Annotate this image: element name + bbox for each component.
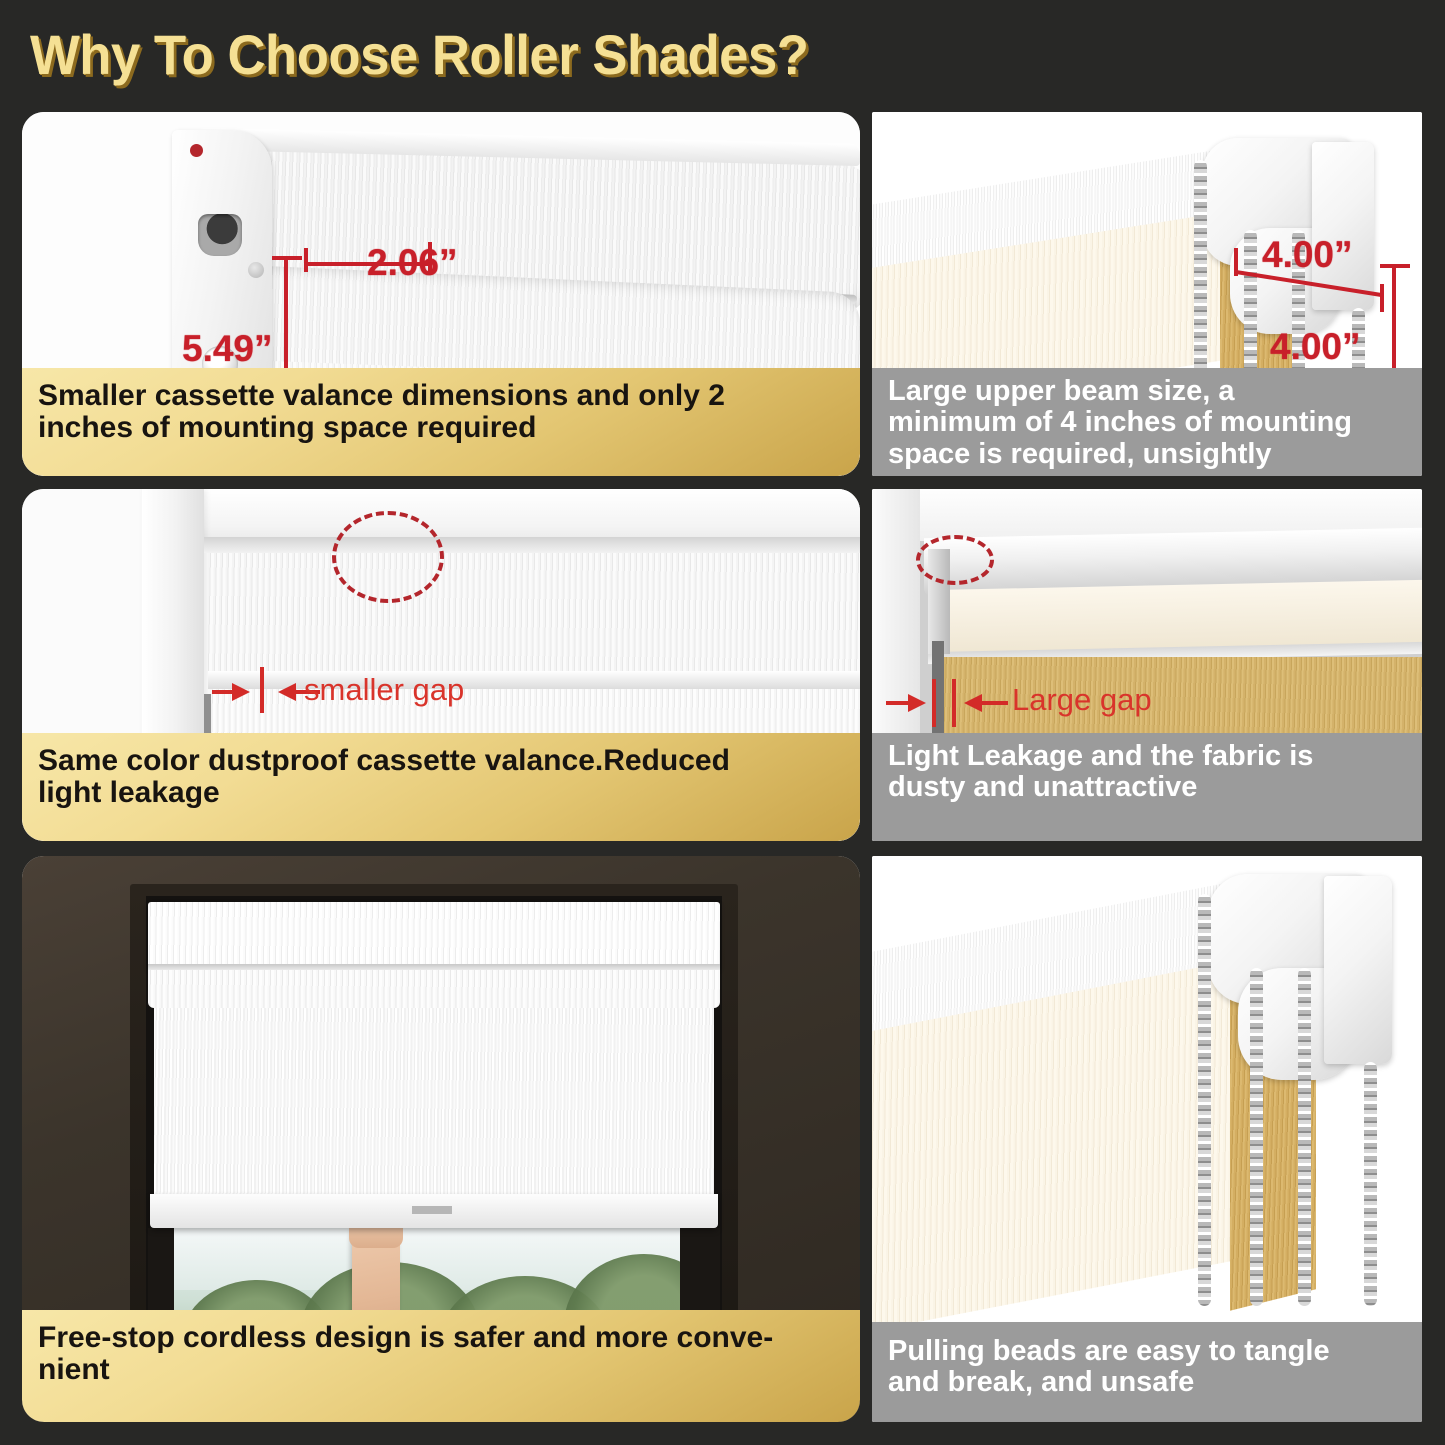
caption-line: Free-stop cordless design is safer and m… [38,1322,844,1354]
bead-chain-left [1198,894,1211,1306]
mount-dot-icon [190,144,203,157]
width-dim-label: 2.06” [367,242,458,284]
gap-tick-line-a [932,679,936,727]
panel-grid: 2.06” 5.49” Smaller cassette valance dim… [0,0,1445,1445]
roller-shade-fabric [154,1006,714,1218]
panel-1-caption: Smaller cassette valance dimensions and … [22,368,860,476]
caption-line: space is required, unsightly [888,439,1406,470]
caption-line: Same color dustproof cassette valance.Re… [38,745,844,777]
gap-arrow-left-stem [212,690,234,694]
shade-brand-tag [412,1206,452,1214]
panel-smaller-cassette: 2.06” 5.49” Smaller cassette valance dim… [22,112,860,476]
caption-line: and break, and unsafe [888,1367,1406,1398]
beam-height-tick-top [1380,264,1410,268]
infographic-root: Why To Choose Roller Shades? [0,0,1445,1445]
width-dim-tick-left [304,248,308,272]
height-dim-tick-top [272,256,302,260]
caption-line: light leakage [38,777,844,809]
beam-width-tick-right [1380,284,1384,312]
bead-chain-tail [1364,1062,1377,1306]
highlight-circle-icon [332,511,444,603]
bead-chain-left [1194,160,1207,388]
gap-tick-line [260,667,264,713]
bead-chain-middle [1250,968,1263,1306]
shade-panel-upper [208,553,860,673]
beam-width-tick-left [1234,248,1238,276]
bead-chain-right [1298,968,1311,1306]
smaller-gap-label: smaller gap [304,672,464,708]
caption-line: Light Leakage and the fabric is [888,741,1406,772]
gap-arrow-left-head [964,694,982,712]
panel-3-caption: Same color dustproof cassette valance.Re… [22,733,860,841]
panel-smaller-gap: smaller gap Same color dustproof cassett… [22,489,860,841]
beam-height-dim-label: 4.00” [1270,326,1361,368]
panel-large-beam: 4.00” 4.00” Large upper beam size, a min… [872,112,1422,476]
gap-arrow-left-head [278,683,296,701]
caption-line: inches of mounting space required [38,412,844,444]
caption-line: dusty and unattractive [888,772,1406,803]
gap-arrow-right-head [908,694,926,712]
gap-tick-line-b [952,679,956,727]
panel-cordless-design: Free-stop cordless design is safer and m… [22,856,860,1422]
panel-6-caption: Pulling beads are easy to tangle and bre… [872,1322,1422,1422]
panel-large-gap: Large gap Light Leakage and the fabric i… [872,489,1422,841]
caption-line: minimum of 4 inches of mounting [888,407,1406,438]
height-dim-label: 5.49” [182,328,273,370]
gap-arrow-right-head [232,683,250,701]
caption-line: nient [38,1354,844,1386]
bead-chain-middle [1244,230,1257,388]
highlight-circle-icon [916,535,994,585]
cassette-valance [148,902,720,968]
large-gap-label: Large gap [1012,682,1152,718]
caption-line: Pulling beads are easy to tangle [888,1336,1406,1367]
bracket-mount-plate [1324,876,1392,1064]
gap-arrow-left-stem [886,701,910,705]
panel-2-caption: Large upper beam size, a minimum of 4 in… [872,368,1422,476]
beam-width-dim-label: 4.00” [1262,234,1353,276]
cap-slot-icon [198,214,242,256]
panel-4-caption: Light Leakage and the fabric is dusty an… [872,733,1422,841]
cassette-lower-lip [148,970,720,1008]
gap-arrow-right-stem [982,701,1008,705]
panel-pulling-beads: Pulling beads are easy to tangle and bre… [872,856,1422,1422]
caption-line: Large upper beam size, a [888,376,1406,407]
cap-screw-small-icon [248,262,264,278]
cassette-head-rail [204,537,860,553]
panel-5-caption: Free-stop cordless design is safer and m… [22,1310,860,1422]
caption-line: Smaller cassette valance dimensions and … [38,380,844,412]
